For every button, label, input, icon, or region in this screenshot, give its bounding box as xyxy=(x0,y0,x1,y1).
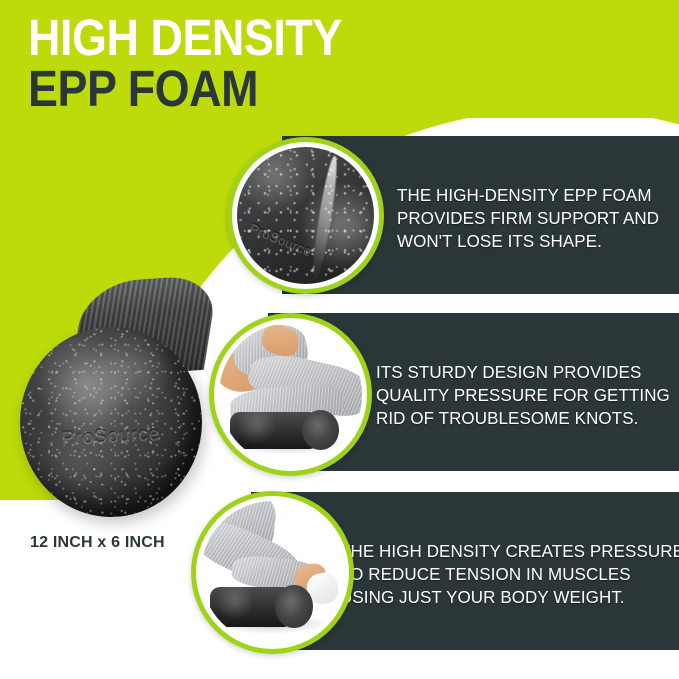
feature-text-3: THE HIGH DENSITY CREATES PRESSURE TO RED… xyxy=(340,540,679,608)
calf-rolling-image xyxy=(201,501,344,644)
thumbnail-white-ring-1: ProSource xyxy=(232,142,379,289)
product-dimensions-caption: 12 INCH x 6 INCH xyxy=(30,534,165,552)
thigh-rolling-image xyxy=(219,323,362,466)
title-line-2: EPP FOAM xyxy=(28,65,486,114)
feature-text-1: THE HIGH-DENSITY EPP FOAM PROVIDES FIRM … xyxy=(397,184,659,252)
feature-3-line-1: THE HIGH DENSITY CREATES PRESSURE xyxy=(340,540,679,563)
title-line-1: HIGH DENSITY xyxy=(28,14,486,63)
feature-3-line-2: TO REDUCE TENSION IN MUSCLES xyxy=(340,563,679,586)
feature-thumbnail-1[interactable]: ProSource xyxy=(227,137,384,294)
product-hero-image: ProSource xyxy=(18,283,214,523)
feature-3-line-3: USING JUST YOUR BODY WEIGHT. xyxy=(340,586,679,609)
feature-2-line-2: QUALITY PRESSURE FOR GETTING xyxy=(376,384,670,407)
thumbnail-white-ring-2 xyxy=(214,318,367,471)
feature-1-line-1: THE HIGH-DENSITY EPP FOAM xyxy=(397,184,659,207)
feature-2-line-1: ITS STURDY DESIGN PROVIDES xyxy=(376,361,670,384)
infographic-canvas: HIGH DENSITY EPP FOAM ProSource THE HIGH… xyxy=(0,0,679,679)
feature-thumbnail-3[interactable] xyxy=(191,491,354,654)
foam-roller-end-face: ProSource xyxy=(20,327,202,517)
highlight-streak xyxy=(309,155,341,281)
foam-roller-end-cap xyxy=(275,585,312,628)
brand-emboss-text: ProSource xyxy=(248,220,315,259)
foam-texture-closeup-image: ProSource xyxy=(237,147,374,284)
feature-thumbnail-2[interactable] xyxy=(209,313,372,476)
feature-2-line-3: RID OF TROUBLESOME KNOTS. xyxy=(376,407,670,430)
feature-1-line-2: PROVIDES FIRM SUPPORT AND xyxy=(397,207,659,230)
page-title: HIGH DENSITY EPP FOAM xyxy=(28,14,548,114)
feature-text-2: ITS STURDY DESIGN PROVIDES QUALITY PRESS… xyxy=(376,361,670,429)
thumbnail-white-ring-3 xyxy=(196,496,349,649)
feature-1-line-3: WON'T LOSE ITS SHAPE. xyxy=(397,230,659,253)
